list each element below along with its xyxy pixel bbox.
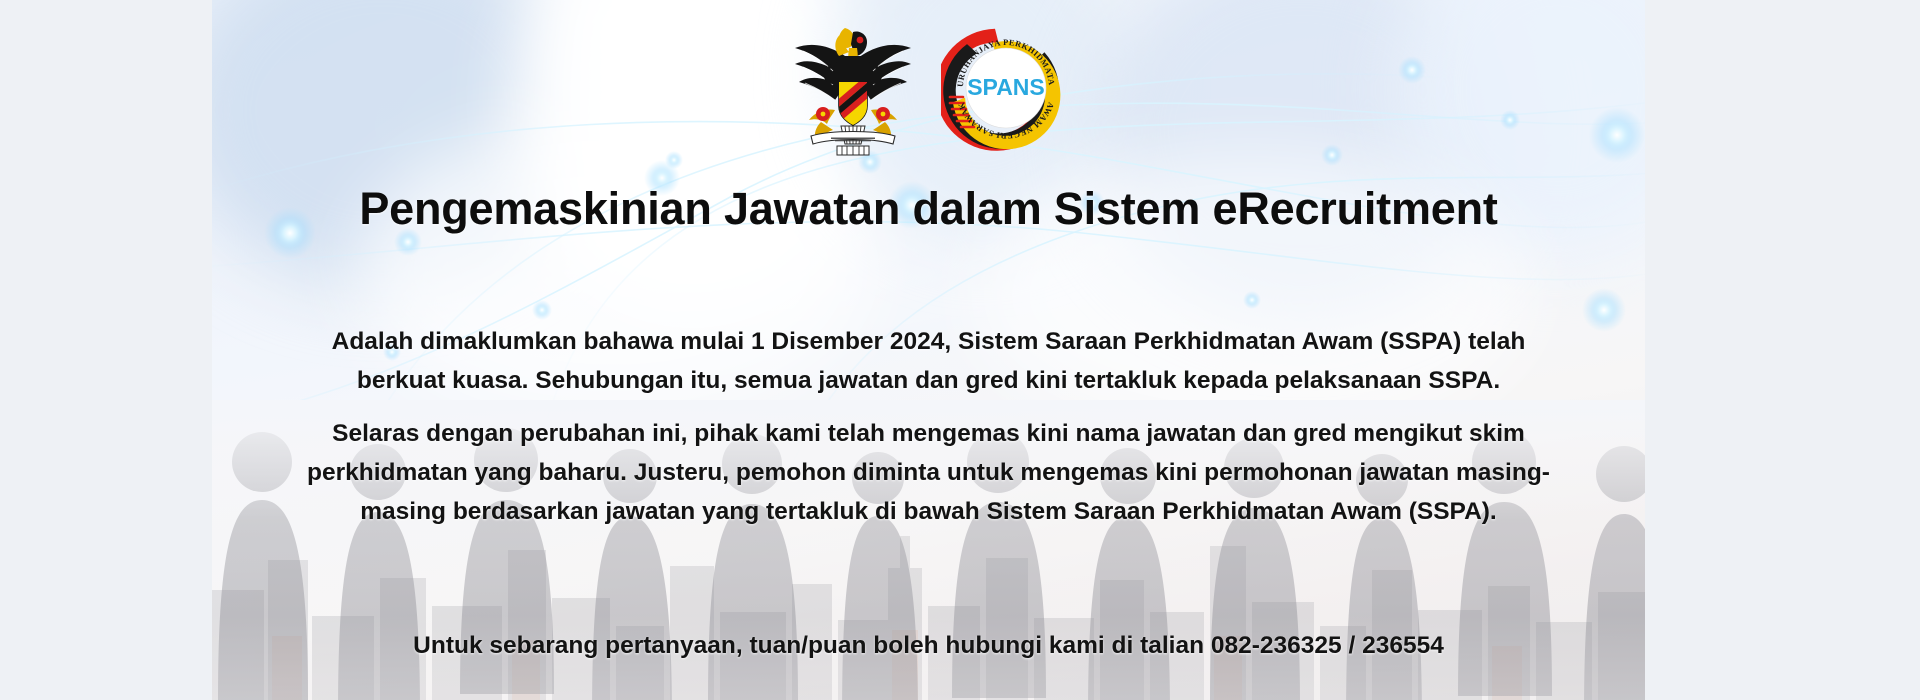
announcement-paragraph-1: Adalah dimaklumkan bahawa mulai 1 Disemb…: [212, 322, 1645, 400]
page-root: SURUHANJAYA PERKHIDMATAN AWAM NEGERI SAR…: [0, 0, 1920, 700]
banner-content: Pengemaskinian Jawatan dalam Sistem eRec…: [212, 0, 1645, 700]
paragraph-1-text: Adalah dimaklumkan bahawa mulai 1 Disemb…: [329, 322, 1529, 400]
paragraph-2-text: Selaras dengan perubahan ini, pihak kami…: [304, 414, 1554, 531]
contact-line: Untuk sebarang pertanyaan, tuan/puan bol…: [212, 632, 1645, 660]
announcement-paragraph-2: Selaras dengan perubahan ini, pihak kami…: [212, 414, 1645, 531]
page-title: Pengemaskinian Jawatan dalam Sistem eRec…: [212, 183, 1645, 235]
announcement-banner: SURUHANJAYA PERKHIDMATAN AWAM NEGERI SAR…: [212, 0, 1645, 700]
